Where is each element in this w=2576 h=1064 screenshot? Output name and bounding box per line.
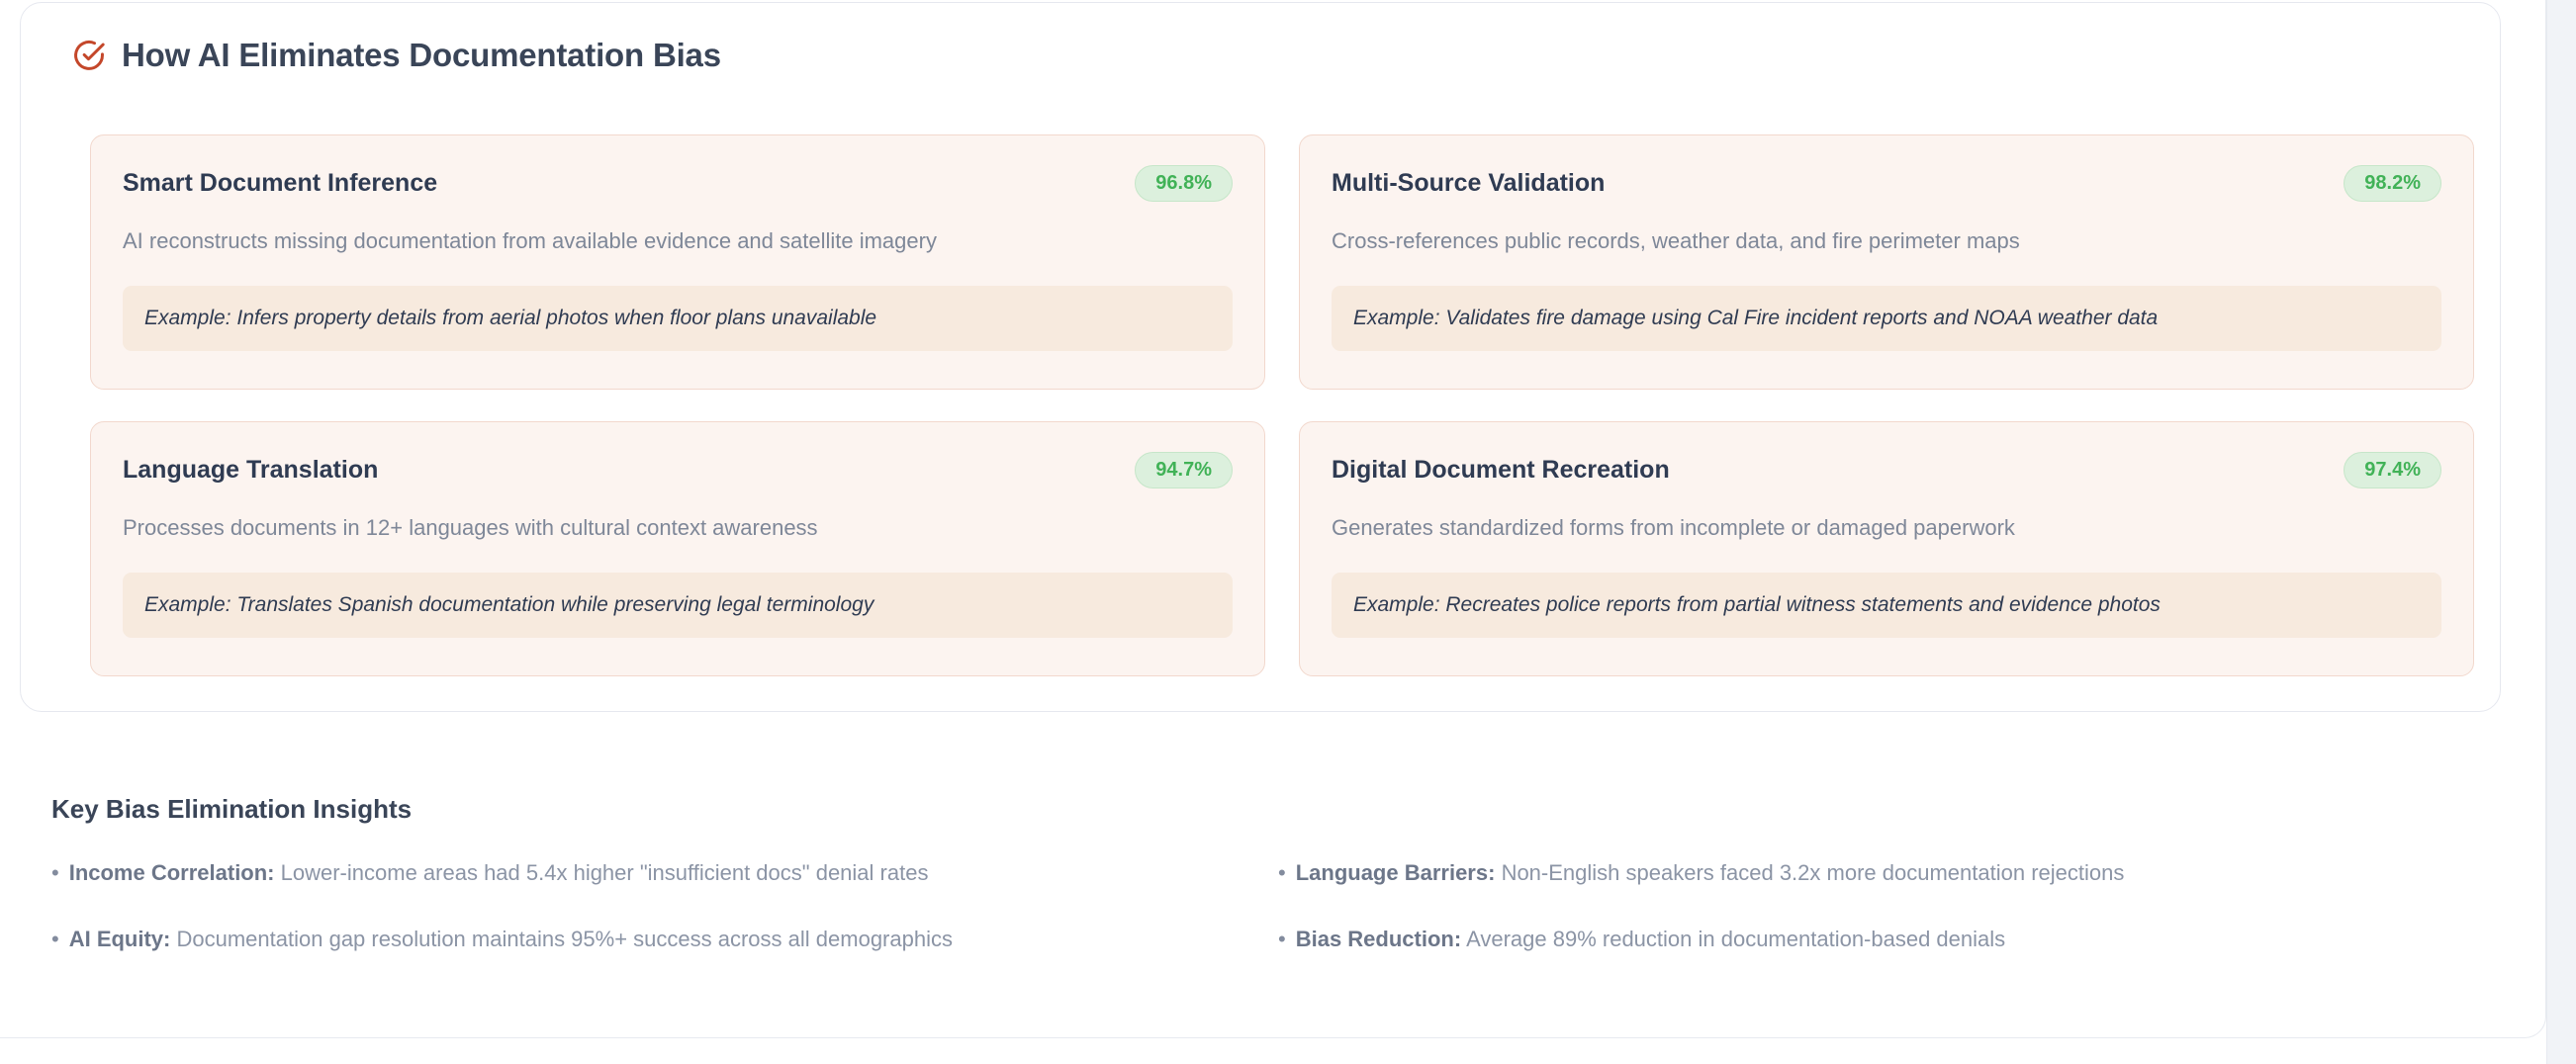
accuracy-badge: 96.8% bbox=[1135, 165, 1233, 202]
insight-text: Non-English speakers faced 3.2x more doc… bbox=[1502, 860, 2125, 885]
bullet-icon: • bbox=[1278, 926, 1286, 954]
key-insights-section: Key Bias Elimination Insights • Income C… bbox=[51, 796, 2465, 953]
report-content-card: How AI Eliminates Documentation Bias Sma… bbox=[0, 0, 2546, 1038]
feature-card-language-translation[interactable]: Language Translation 94.7% Processes doc… bbox=[90, 421, 1265, 676]
insight-item-ai-equity: • AI Equity: Documentation gap resolutio… bbox=[51, 926, 1278, 954]
insight-label: Income Correlation: bbox=[69, 860, 275, 885]
feature-card-smart-document-inference[interactable]: Smart Document Inference 96.8% AI recons… bbox=[90, 134, 1265, 390]
bullet-icon: • bbox=[1278, 859, 1286, 888]
insight-label: Language Barriers: bbox=[1296, 860, 1496, 885]
accuracy-badge: 98.2% bbox=[2344, 165, 2441, 202]
card-description: Cross-references public records, weather… bbox=[1332, 226, 2441, 256]
feature-card-digital-document-recreation[interactable]: Digital Document Recreation 97.4% Genera… bbox=[1299, 421, 2474, 676]
card-example: Example: Recreates police reports from p… bbox=[1332, 573, 2441, 638]
insights-title: Key Bias Elimination Insights bbox=[51, 796, 2465, 822]
card-description: Processes documents in 12+ languages wit… bbox=[123, 513, 1233, 543]
accuracy-badge: 97.4% bbox=[2344, 452, 2441, 488]
insight-text: Documentation gap resolution maintains 9… bbox=[177, 927, 953, 951]
insight-text: Lower-income areas had 5.4x higher "insu… bbox=[281, 860, 929, 885]
bullet-icon: • bbox=[51, 859, 59, 888]
feature-card-grid: Smart Document Inference 96.8% AI recons… bbox=[90, 134, 2474, 676]
card-title: Digital Document Recreation bbox=[1332, 452, 1670, 485]
insight-text: Average 89% reduction in documentation-b… bbox=[1466, 927, 2005, 951]
page-root: How AI Eliminates Documentation Bias Sma… bbox=[0, 0, 2576, 1064]
card-example: Example: Validates fire damage using Cal… bbox=[1332, 286, 2441, 351]
card-header: Multi-Source Validation 98.2% bbox=[1332, 165, 2441, 202]
card-header: Digital Document Recreation 97.4% bbox=[1332, 452, 2441, 488]
insight-label: Bias Reduction: bbox=[1296, 927, 1461, 951]
card-title: Smart Document Inference bbox=[123, 165, 437, 198]
check-circle-icon bbox=[72, 39, 106, 72]
vertical-scrollbar[interactable] bbox=[2546, 0, 2576, 1064]
bullet-icon: • bbox=[51, 926, 59, 954]
card-title: Language Translation bbox=[123, 452, 378, 485]
section-header: How AI Eliminates Documentation Bias bbox=[72, 37, 721, 72]
card-example: Example: Infers property details from ae… bbox=[123, 286, 1233, 351]
insight-label: AI Equity: bbox=[69, 927, 171, 951]
card-example: Example: Translates Spanish documentatio… bbox=[123, 573, 1233, 638]
card-title: Multi-Source Validation bbox=[1332, 165, 1605, 198]
card-header: Language Translation 94.7% bbox=[123, 452, 1233, 488]
accuracy-badge: 94.7% bbox=[1135, 452, 1233, 488]
card-header: Smart Document Inference 96.8% bbox=[123, 165, 1233, 202]
card-description: AI reconstructs missing documentation fr… bbox=[123, 226, 1233, 256]
insights-grid: • Income Correlation: Lower-income areas… bbox=[51, 859, 2465, 953]
page-title: How AI Eliminates Documentation Bias bbox=[122, 39, 721, 71]
insight-item-language-barriers: • Language Barriers: Non-English speaker… bbox=[1278, 859, 2465, 888]
documentation-bias-panel: How AI Eliminates Documentation Bias Sma… bbox=[20, 2, 2501, 712]
card-description: Generates standardized forms from incomp… bbox=[1332, 513, 2441, 543]
insight-item-bias-reduction: • Bias Reduction: Average 89% reduction … bbox=[1278, 926, 2465, 954]
insight-item-income-correlation: • Income Correlation: Lower-income areas… bbox=[51, 859, 1278, 888]
feature-card-multi-source-validation[interactable]: Multi-Source Validation 98.2% Cross-refe… bbox=[1299, 134, 2474, 390]
